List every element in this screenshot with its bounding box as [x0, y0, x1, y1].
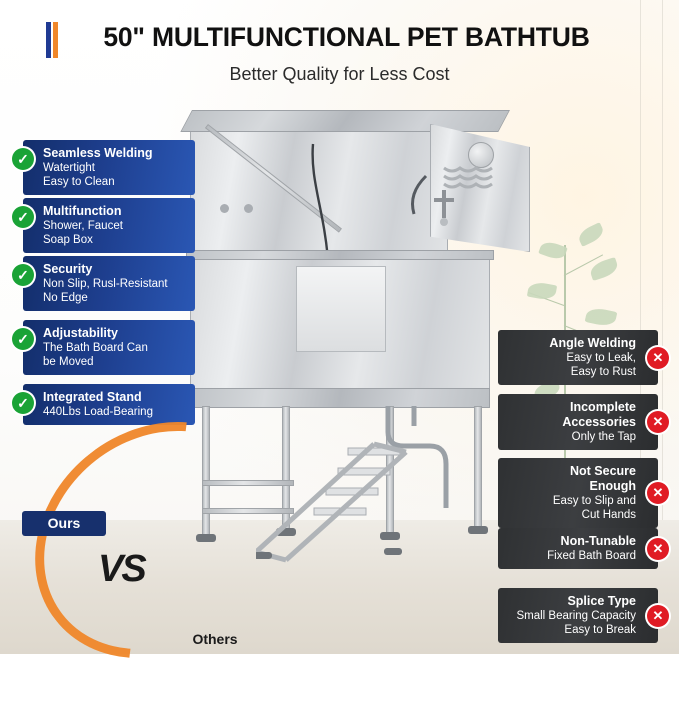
- cons-item: Non-Tunable Fixed Bath Board ✕: [498, 528, 669, 569]
- check-icon: ✓: [12, 206, 34, 228]
- pet-stairs: [256, 440, 456, 568]
- check-icon: ✓: [12, 148, 34, 170]
- pros-item: ✓ Seamless Welding Watertight Easy to Cl…: [12, 140, 195, 195]
- cons-item-title: Non-Tunable: [510, 534, 636, 549]
- cons-item-sub: Fixed Bath Board: [510, 549, 636, 563]
- tub-foot: [468, 526, 488, 534]
- cons-item: Angle Welding Easy to Leak, Easy to Rust…: [498, 330, 669, 385]
- bath-board: [296, 266, 386, 352]
- cons-item: Not Secure Enough Easy to Slip and Cut H…: [498, 458, 669, 528]
- pros-item-title: Security: [43, 262, 185, 277]
- pros-item-sub: 440Lbs Load-Bearing: [43, 405, 185, 419]
- cons-item-title: Angle Welding: [510, 336, 636, 351]
- pros-item-title: Adjustability: [43, 326, 185, 341]
- pros-item-sub: Non Slip, Rusl-Resistant No Edge: [43, 277, 185, 305]
- ours-badge: Ours: [22, 511, 106, 536]
- check-icon: ✓: [12, 392, 34, 414]
- tub-rim: [186, 250, 494, 260]
- page-title: 50" MULTIFUNCTIONAL PET BATHTUB: [0, 18, 679, 56]
- pros-item-sub: The Bath Board Can be Moved: [43, 341, 185, 369]
- cons-item-sub: Easy to Slip and Cut Hands: [510, 494, 636, 522]
- x-icon: ✕: [647, 411, 669, 433]
- others-badge: Others: [175, 628, 255, 650]
- tub-leg: [474, 406, 482, 528]
- cons-item-sub: Only the Tap: [510, 430, 636, 444]
- cons-item-sub: Easy to Leak, Easy to Rust: [510, 351, 636, 379]
- cons-item-title: Splice Type: [510, 594, 636, 609]
- header: 50" MULTIFUNCTIONAL PET BATHTUB Better Q…: [0, 18, 679, 85]
- pros-item-title: Multifunction: [43, 204, 185, 219]
- cons-item-title: Not Secure Enough: [510, 464, 636, 494]
- pros-item: ✓ Security Non Slip, Rusl-Resistant No E…: [12, 256, 195, 311]
- check-icon: ✓: [12, 328, 34, 350]
- pros-item-sub: Watertight Easy to Clean: [43, 161, 185, 189]
- pros-item: ✓ Integrated Stand 440Lbs Load-Bearing: [12, 384, 195, 425]
- cons-item: Incomplete Accessories Only the Tap ✕: [498, 394, 669, 450]
- x-icon: ✕: [647, 347, 669, 369]
- wall-hook: [244, 204, 253, 213]
- pros-item-sub: Shower, Faucet Soap Box: [43, 219, 185, 247]
- x-icon: ✕: [647, 538, 669, 560]
- cons-item-title: Incomplete Accessories: [510, 400, 636, 430]
- vs-label: VS: [98, 548, 145, 591]
- cons-item-sub: Small Bearing Capacity Easy to Break: [510, 609, 636, 637]
- pros-item-title: Integrated Stand: [43, 390, 185, 405]
- cons-item: Splice Type Small Bearing Capacity Easy …: [498, 588, 669, 643]
- faucet-icon: [426, 188, 466, 232]
- pros-item-title: Seamless Welding: [43, 146, 185, 161]
- wall-hook: [220, 204, 229, 213]
- tub-top-panel: [180, 110, 510, 132]
- x-icon: ✕: [647, 605, 669, 627]
- page-subtitle: Better Quality for Less Cost: [0, 64, 679, 85]
- x-icon: ✕: [647, 482, 669, 504]
- pros-item: ✓ Adjustability The Bath Board Can be Mo…: [12, 320, 195, 375]
- check-icon: ✓: [12, 264, 34, 286]
- pros-item: ✓ Multifunction Shower, Faucet Soap Box: [12, 198, 195, 253]
